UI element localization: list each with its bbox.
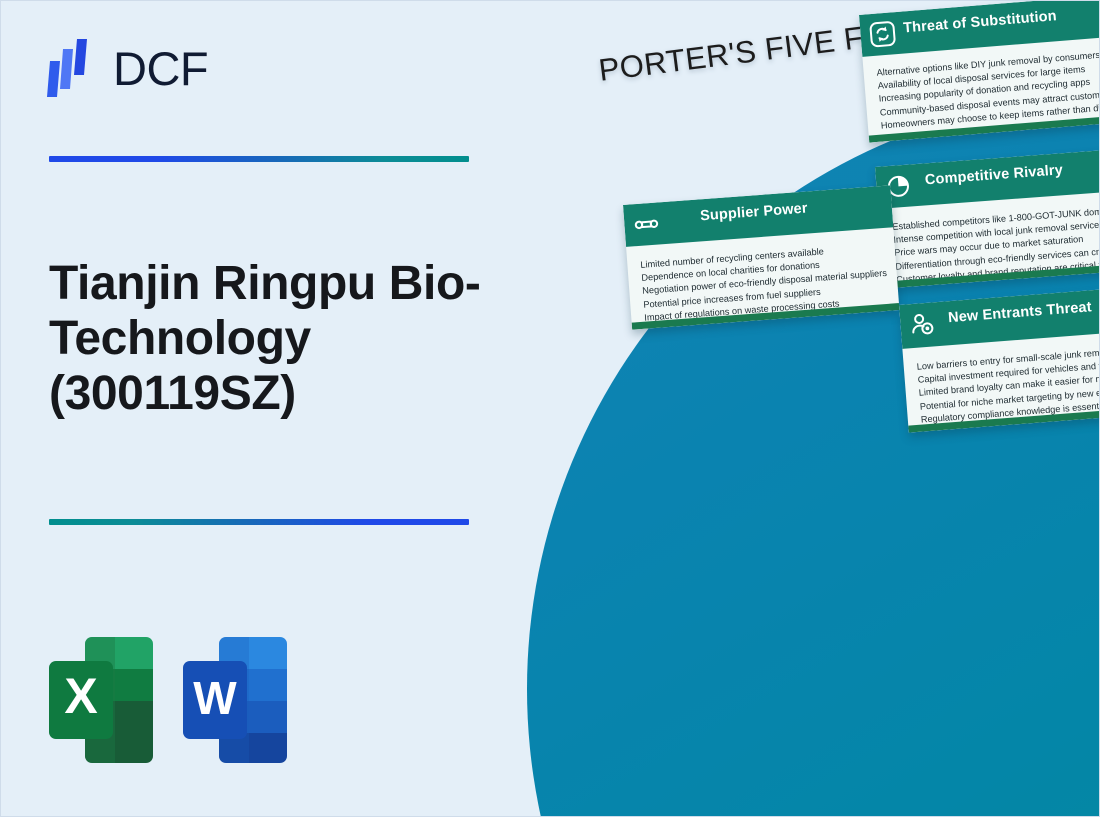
porters-five-forces-graphic: PORTER'S FIVE FORCES ANALYSIS Threat of … — [507, 0, 1100, 817]
card-title: Competitive Rivalry — [876, 159, 1100, 192]
divider-bottom — [49, 519, 469, 525]
word-file-icon[interactable]: W — [181, 635, 289, 765]
word-letter: W — [193, 672, 237, 724]
page-title: Tianjin Ringpu Bio-Technology (300119SZ) — [49, 256, 509, 422]
excel-file-icon[interactable]: X — [47, 635, 155, 765]
brand-logo[interactable]: DCF — [47, 39, 208, 97]
card-threat-of-substitution[interactable]: Threat of Substitution Alternative optio… — [859, 0, 1100, 143]
brand-name: DCF — [113, 45, 208, 92]
poster-page: DCF Tianjin Ringpu Bio-Technology (30011… — [0, 0, 1100, 817]
card-title: Threat of Substitution — [860, 5, 1100, 40]
card-supplier-power[interactable]: Supplier Power Limited number of recycli… — [623, 185, 899, 329]
divider-top — [49, 156, 469, 162]
card-competitive-rivalry[interactable]: Competitive Rivalry Established competit… — [875, 149, 1100, 289]
card-title: Supplier Power — [624, 195, 884, 230]
document-download-icons: X W — [47, 635, 289, 765]
excel-letter: X — [64, 668, 97, 724]
card-new-entrants-threat[interactable]: New Entrants Threat Low barriers to entr… — [899, 286, 1100, 433]
dcf-bars-logo-icon — [47, 39, 99, 97]
left-panel: DCF Tianjin Ringpu Bio-Technology (30011… — [1, 1, 541, 817]
